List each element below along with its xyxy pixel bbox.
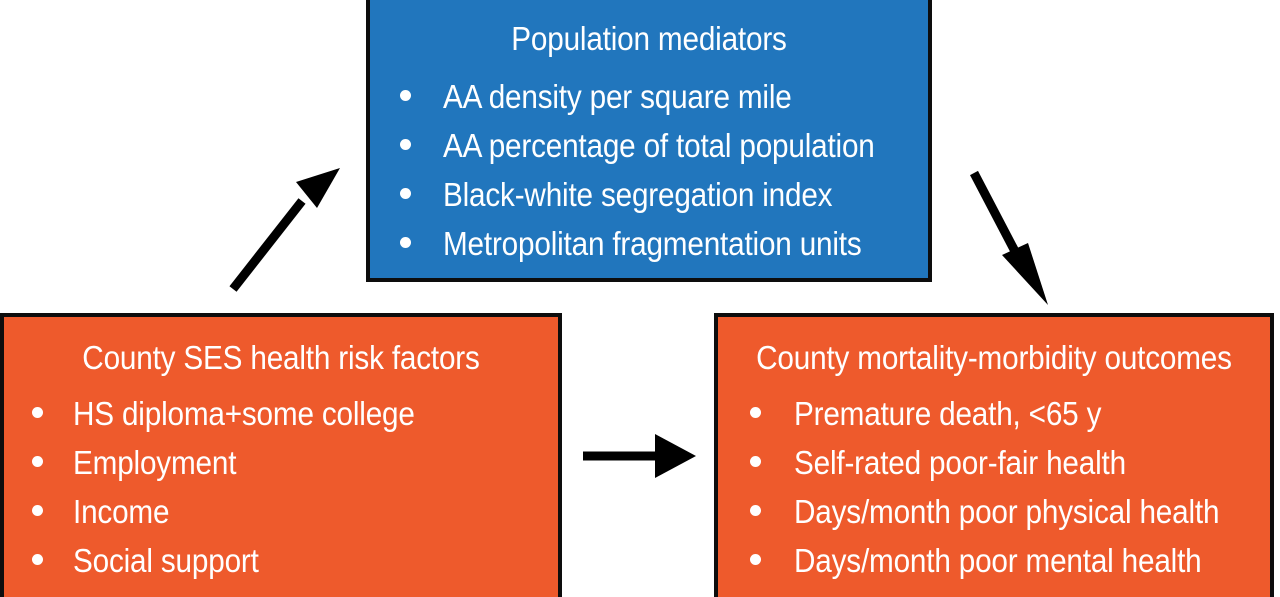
county-ses-risk-factors-box: County SES health risk factors HS diplom…: [0, 313, 562, 597]
diagram-canvas: Population mediators AA density per squa…: [0, 0, 1280, 597]
list-item: Income: [32, 495, 180, 529]
list-item-label: Premature death, <65 y: [794, 397, 1101, 431]
list-item: HS diploma+some college: [32, 397, 453, 431]
list-item: Days/month poor physical health: [750, 495, 1267, 529]
list-item: AA percentage of total population: [400, 129, 923, 163]
list-item-label: Self-rated poor-fair health: [794, 446, 1126, 480]
bullet-icon: [750, 456, 761, 467]
bullet-icon: [400, 237, 411, 248]
list-item: Metropolitan fragmentation units: [400, 227, 908, 261]
bullet-icon: [400, 90, 411, 101]
bullet-icon: [32, 554, 43, 565]
list-item: Days/month poor mental health: [750, 544, 1247, 578]
risk-to-outcomes-arrow: [583, 434, 696, 478]
bullet-icon: [750, 407, 761, 418]
mediators-to-outcomes-arrow: [974, 173, 1048, 305]
list-item: Employment: [32, 446, 254, 480]
bullet-icon: [32, 407, 43, 418]
county-mortality-morbidity-outcomes-box: County mortality-morbidity outcomes Prem…: [714, 313, 1274, 597]
list-item: Premature death, <65 y: [750, 397, 1135, 431]
list-item-label: Days/month poor mental health: [794, 544, 1202, 578]
list-item-label: Social support: [73, 544, 259, 578]
bullet-icon: [400, 188, 411, 199]
population-mediators-box: Population mediators AA density per squa…: [366, 0, 932, 282]
list-item: Black-white segregation index: [400, 178, 876, 212]
bullet-icon: [32, 456, 43, 467]
list-item-label: Black-white segregation index: [443, 178, 832, 212]
bullet-icon: [32, 505, 43, 516]
list-item-label: HS diploma+some college: [73, 397, 415, 431]
list-item: Self-rated poor-fair health: [750, 446, 1163, 480]
list-item-label: AA density per square mile: [443, 80, 792, 114]
list-item-label: Employment: [73, 446, 236, 480]
list-item: AA density per square mile: [400, 80, 830, 114]
list-item-label: AA percentage of total population: [443, 129, 875, 163]
list-item-label: Days/month poor physical health: [794, 495, 1219, 529]
county-ses-risk-factors-title: County SES health risk factors: [32, 339, 531, 376]
list-item: Social support: [32, 544, 279, 578]
population-mediators-title: Population mediators: [398, 20, 900, 57]
risk-to-mediators-arrow: [233, 168, 340, 289]
bullet-icon: [750, 554, 761, 565]
list-item-label: Income: [73, 495, 169, 529]
bullet-icon: [750, 505, 761, 516]
county-mortality-morbidity-outcomes-title: County mortality-morbidity outcomes: [746, 339, 1243, 376]
bullet-icon: [400, 139, 411, 150]
list-item-label: Metropolitan fragmentation units: [443, 227, 862, 261]
